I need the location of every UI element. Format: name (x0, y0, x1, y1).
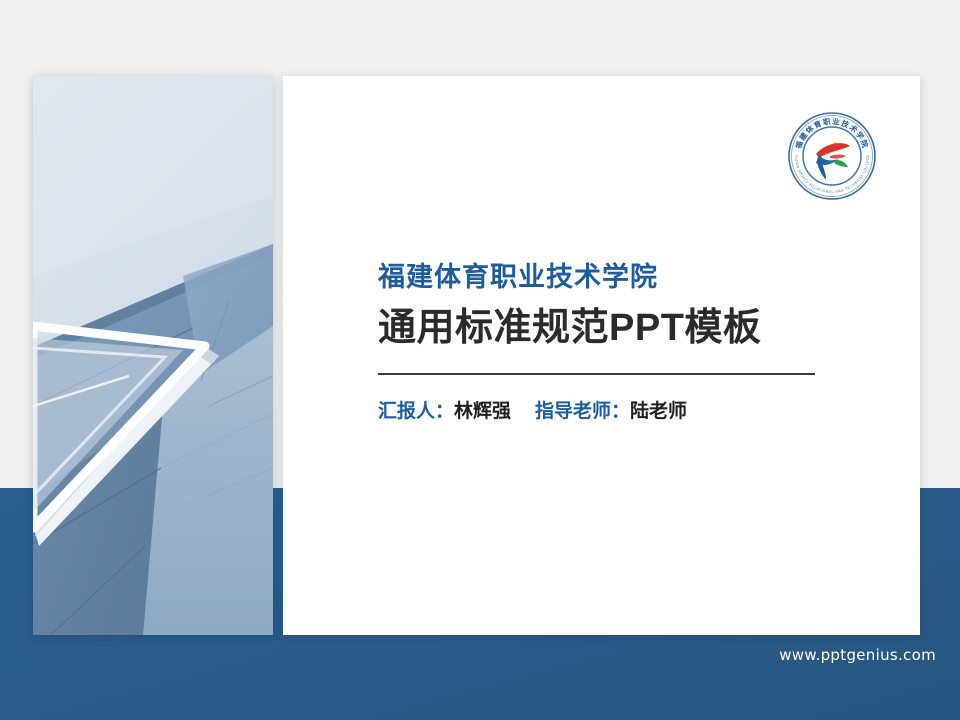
photo-artwork (33, 76, 273, 635)
advisor-name: 陆老师 (630, 401, 687, 422)
school-name: 福建体育职业技术学院 (378, 262, 838, 293)
advisor-label: 指导老师： (535, 401, 630, 422)
college-seal-logo: 福建体育职业技术学院 FUJIAN SPORTS VOCATIONAL AND … (786, 110, 878, 202)
title-text-block: 福建体育职业技术学院 通用标准规范PPT模板 汇报人：林辉强指导老师：陆老师 (378, 262, 838, 424)
page-title: 通用标准规范PPT模板 (378, 307, 838, 351)
byline: 汇报人：林辉强指导老师：陆老师 (378, 401, 838, 424)
footer-url: www.pptgenius.com (0, 646, 936, 664)
architecture-ceiling-photo (33, 76, 273, 635)
college-seal-artwork: 福建体育职业技术学院 FUJIAN SPORTS VOCATIONAL AND … (786, 110, 878, 202)
slide-canvas: www.pptgenius.com (0, 0, 960, 720)
presenter-label: 汇报人： (378, 401, 454, 422)
presenter-name: 林辉强 (454, 401, 511, 422)
title-divider (378, 373, 815, 375)
